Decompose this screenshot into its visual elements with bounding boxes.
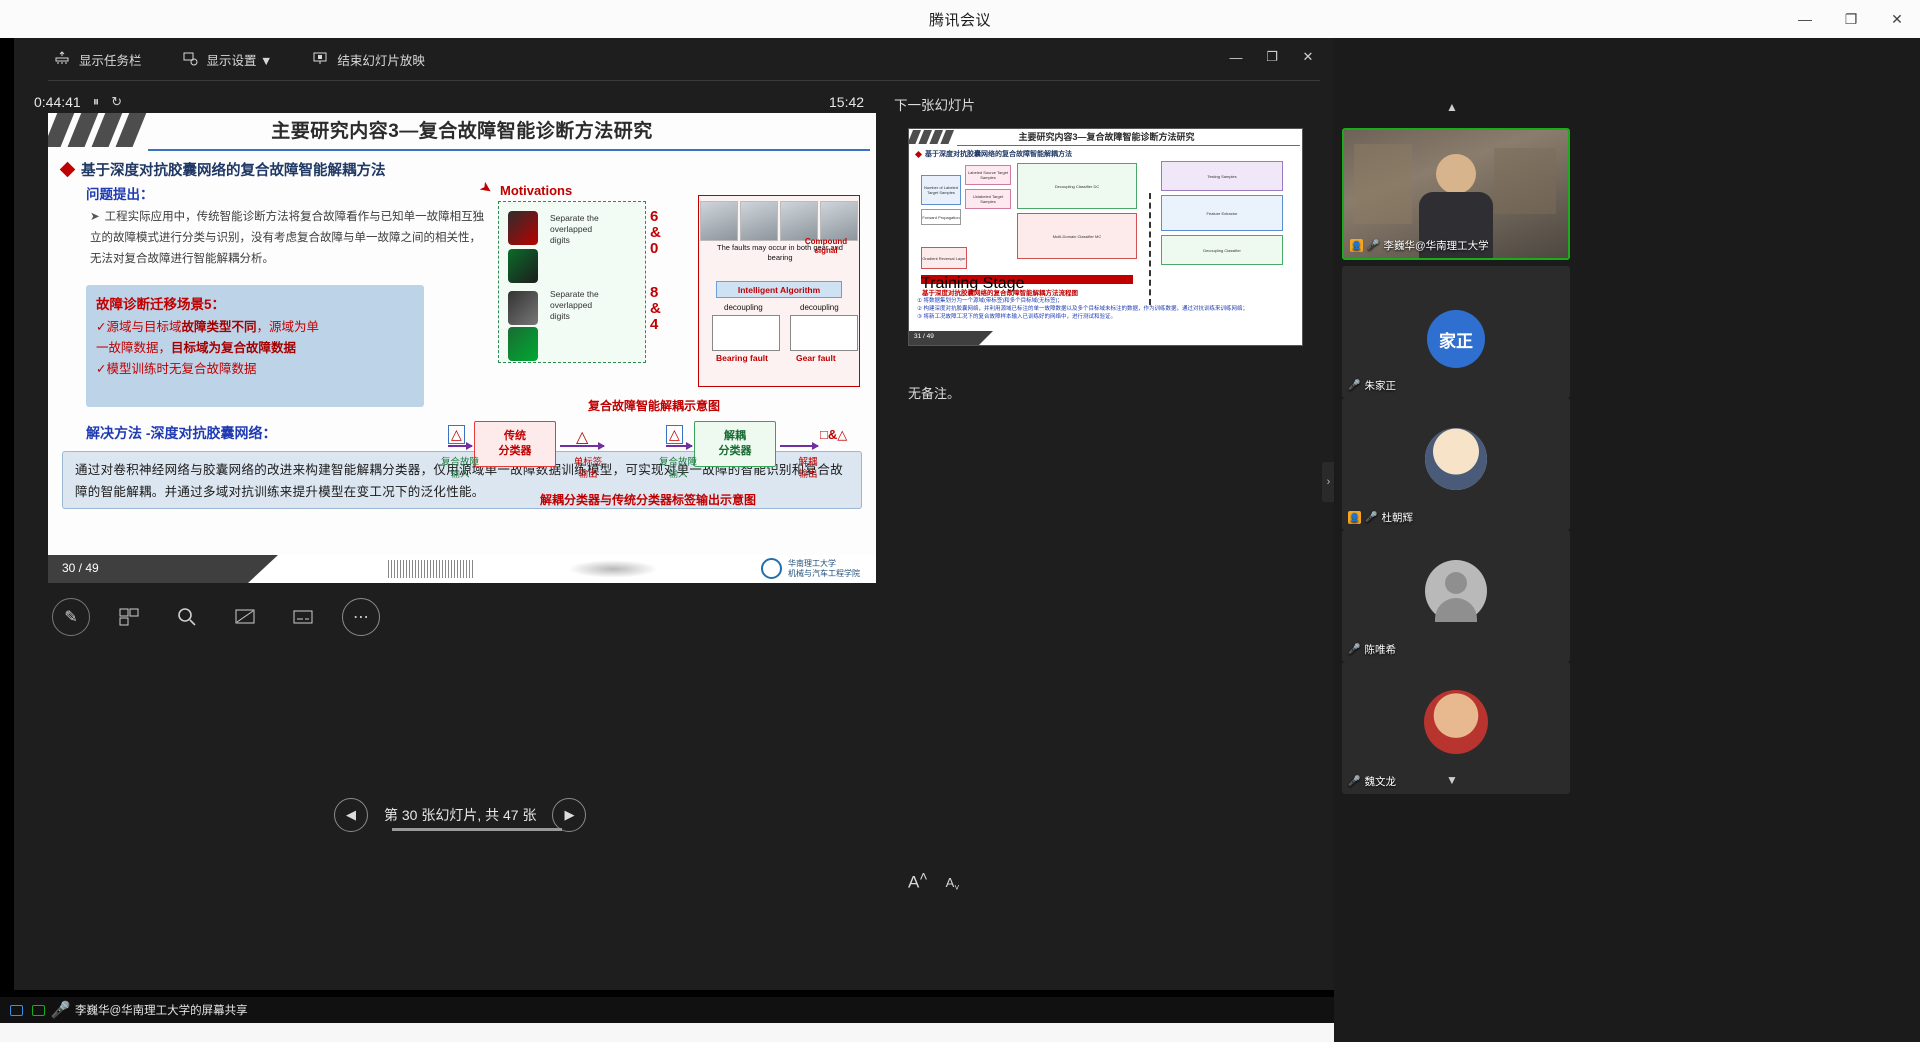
- gear-fault-label: Gear fault: [796, 353, 836, 363]
- digit-images: [500, 205, 546, 361]
- footer-school: 华南理工大学: [788, 559, 860, 569]
- motivations-arrow-icon: ➤: [476, 177, 497, 199]
- notes-panel: 主要研究内容3—复合故障智能诊断方法研究 基于深度对抗胶囊网络的复合故障智能解耦…: [894, 113, 1304, 903]
- preview-block-3: Unlabeled Target Samples: [965, 189, 1011, 209]
- more-options-icon[interactable]: ⋯: [342, 598, 380, 636]
- photo-gear: [740, 201, 778, 241]
- screen-share-text: 李巍华@华南理工大学的屏幕共享: [75, 1002, 248, 1018]
- diamond-bullet-icon: [60, 162, 76, 178]
- presenter-restore-button[interactable]: ❐: [1254, 42, 1290, 72]
- participant-label-0: 李巍华@华南理工大学: [1383, 238, 1488, 253]
- slide-counter: 第 30 张幻灯片, 共 47 张: [384, 805, 536, 825]
- scenario-line1-post: ，源域为单: [257, 320, 320, 334]
- show-taskbar-icon: [54, 51, 70, 67]
- preview-block-2: Labeled Source Target Samples: [965, 165, 1011, 185]
- footer-blur-graphic: [568, 560, 658, 578]
- flow-arrow-1: [448, 445, 472, 447]
- preview-header: 主要研究内容3—复合故障智能诊断方法研究: [909, 129, 1302, 145]
- waveform-bearing: [712, 315, 780, 351]
- scroll-down-icon[interactable]: ▼: [1446, 773, 1458, 787]
- avatar-photo-4: [1424, 690, 1488, 754]
- participant-name-1: 🎤 朱家正: [1348, 378, 1396, 393]
- increase-font-button[interactable]: A˄: [908, 869, 928, 893]
- decoupling-classifier-box: 解耦分类器: [694, 421, 776, 467]
- mic-icon-4: 🎤: [1348, 776, 1360, 787]
- host-badge-0: 👤: [1350, 239, 1363, 252]
- preview-body-lines: ① 将数据集划分为一个源域(带标签)和多个目标域(无标签)； ② 构建深度对抗胶…: [917, 297, 1297, 321]
- preview-line-3: ③ 将新工况故障工况下的复合故障样本输入已训练好的网络中，进行测试和验证。: [917, 313, 1297, 321]
- decrease-font-button[interactable]: A˅: [946, 875, 960, 893]
- timer-restart-icon[interactable]: ↻: [111, 94, 122, 110]
- magnifier-glyph: [177, 607, 197, 627]
- motivations-label: Motivations: [500, 183, 572, 198]
- digit-image-2: [508, 249, 538, 283]
- participant-name-3: 🎤 陈唯希: [1348, 642, 1396, 657]
- separate-text-2: Separate the overlapped digits: [550, 289, 612, 322]
- scenario-line2-pre: 一故障数据，: [96, 341, 171, 355]
- end-show-button[interactable]: 结束幻灯片放映: [312, 50, 425, 69]
- avatar-anime-2: [1425, 428, 1487, 490]
- window-title: 腾讯会议: [929, 9, 991, 30]
- presentation-timer: 0:44:41 ⏸ ↻: [34, 94, 122, 110]
- footer-dept: 机械与汽车工程学院: [788, 569, 860, 579]
- show-taskbar-button[interactable]: 显示任务栏: [54, 50, 142, 69]
- scenario-heading: 故障诊断迁移场景5：: [96, 293, 414, 313]
- subtitle-icon[interactable]: [284, 598, 322, 636]
- next-slide-button[interactable]: ▶: [552, 798, 586, 832]
- display-settings-icon: [182, 51, 198, 67]
- digit-image-1: [508, 211, 538, 245]
- preview-training-band: Training Stage: [921, 275, 1133, 284]
- input-triangle-1-icon: △: [448, 425, 465, 444]
- mic-icon: 🎤: [53, 1004, 68, 1017]
- scenario-line2-bold: 目标域为复合故障数据: [171, 341, 296, 355]
- preview-bullet: 基于深度对抗胶囊网络的复合故障智能解耦方法: [916, 149, 1072, 159]
- toolbar-divider: [48, 80, 1320, 81]
- digit-result-1: 6&0: [650, 209, 661, 257]
- flow-arrow-4: [780, 445, 818, 447]
- problem-subhead: 问题提出：: [86, 183, 154, 203]
- minimize-button[interactable]: —: [1782, 0, 1828, 38]
- slide-footer: 30 / 49 华南理工大学 机械与汽车工程学院: [48, 555, 876, 583]
- blackout-glyph: [235, 609, 255, 625]
- participant-label-1: 朱家正: [1364, 378, 1396, 393]
- digit-result-2: 8&4: [650, 285, 661, 333]
- slide-title: 主要研究内容3—复合故障智能诊断方法研究: [48, 116, 876, 143]
- title-underline: [148, 149, 870, 151]
- window-titlebar: 腾讯会议 — ❐ ✕: [0, 0, 1920, 38]
- preview-title-underline: [957, 145, 1300, 146]
- participant-name-0: 👤 🎤 李巍华@华南理工大学: [1350, 238, 1489, 253]
- flow-label-output-1: 单标签输出: [566, 457, 610, 481]
- participant-tile-3[interactable]: 🎤 陈唯希: [1342, 530, 1570, 662]
- preview-diamond-icon: [915, 150, 922, 157]
- timer-pause-icon[interactable]: ⏸: [93, 94, 100, 110]
- preview-line-1: ① 将数据集划分为一个源域(带标签)和多个目标域(无标签)；: [917, 297, 1297, 305]
- flow-label-input-1: 复合故障输入: [438, 457, 482, 481]
- participant-tile-2[interactable]: 👤 🎤 杜朝辉: [1342, 398, 1570, 530]
- avatar-default-3: [1425, 560, 1487, 622]
- presenter-view-window: 显示任务栏 显示设置 ▼ 结束幻灯片放映: [14, 38, 1334, 990]
- scenario-line-2: 一故障数据，目标域为复合故障数据: [96, 338, 414, 359]
- preview-title: 主要研究内容3—复合故障智能诊断方法研究: [909, 130, 1303, 143]
- scroll-up-icon[interactable]: ▲: [1446, 100, 1458, 114]
- separate-text-1: Separate the overlapped digits: [550, 213, 612, 246]
- presenter-close-button[interactable]: ✕: [1290, 42, 1326, 72]
- flow-label-input-2: 复合故障输入: [656, 457, 700, 481]
- problem-paragraph-text: 工程实际应用中，传统智能诊断方法将复合故障看作与已知单一故障相互独立的故障模式进…: [90, 211, 484, 265]
- display-settings-label: 显示设置 ▼: [207, 50, 273, 69]
- end-show-label: 结束幻灯片放映: [337, 50, 425, 69]
- mic-icon-2: 🎤: [1365, 512, 1377, 523]
- decoupling-label-right: decoupling: [800, 303, 839, 312]
- camera-icon: [31, 1004, 46, 1017]
- mic-icon-1: 🎤: [1348, 380, 1360, 391]
- maximize-button[interactable]: ❐: [1828, 0, 1874, 38]
- main-bullet: 基于深度对抗胶囊网络的复合故障智能解耦方法: [62, 159, 386, 180]
- footer-waveform-graphic: [388, 560, 474, 578]
- participant-label-3: 陈唯希: [1364, 642, 1396, 657]
- subtitle-glyph: [293, 610, 313, 624]
- slide-tools: ✎: [52, 598, 380, 636]
- mic-icon-0: 🎤: [1367, 240, 1379, 251]
- zoom-tool-icon[interactable]: [168, 598, 206, 636]
- scenario-box: 故障诊断迁移场景5： ✓源域与目标域故障类型不同，源域为单 一故障数据，目标域为…: [86, 285, 424, 407]
- preview-page-number: 31 / 49: [914, 333, 934, 340]
- scenario-line1-pre: ✓源域与目标域: [96, 320, 181, 334]
- output-symbols-icon: □&△: [820, 427, 847, 443]
- photo-motor: [780, 201, 818, 241]
- presenter-minimize-button[interactable]: —: [1218, 42, 1254, 72]
- photo-bearing: [820, 201, 858, 241]
- preview-footer: 31 / 49: [909, 331, 1303, 345]
- timer-value: 0:44:41: [34, 94, 81, 110]
- slide-navigation: ◀ 第 30 张幻灯片, 共 47 张 ▶: [334, 798, 614, 832]
- machine-photos: [700, 201, 858, 241]
- preview-block-fe: Feature Extractor: [1161, 195, 1283, 231]
- preview-block-testsamples: Testing Samples: [1161, 161, 1283, 191]
- flow-arrow-2: [560, 445, 604, 447]
- participant-label-4: 魏文龙: [1364, 774, 1396, 789]
- participant-name-2: 👤 🎤 杜朝辉: [1348, 510, 1413, 525]
- intelligent-algorithm-box: Intelligent Algorithm: [716, 281, 842, 298]
- next-slide-label: 下一张幻灯片: [894, 94, 975, 114]
- close-button[interactable]: ✕: [1874, 0, 1920, 38]
- preview-block-dc: Decoupling Classifier DC: [1017, 163, 1137, 209]
- presenter-toolbar: 显示任务栏 显示设置 ▼ 结束幻灯片放映: [14, 38, 1334, 80]
- main-bullet-text: 基于深度对抗胶囊网络的复合故障智能解耦方法: [81, 159, 386, 180]
- current-slide[interactable]: 主要研究内容3—复合故障智能诊断方法研究 基于深度对抗胶囊网络的复合故障智能解耦…: [48, 113, 876, 583]
- waveform-gear: [790, 315, 858, 351]
- scenario-line1-bold: 故障类型不同: [181, 320, 256, 334]
- shared-screen-stage: 显示任务栏 显示设置 ▼ 结束幻灯片放映: [0, 38, 1334, 1023]
- university-name: 华南理工大学 机械与汽车工程学院: [788, 559, 860, 579]
- figure-caption-2: 解耦分类器与传统分类器标签输出示意图: [540, 491, 756, 508]
- preview-block-1: Number of Labeled Target Samples: [921, 175, 961, 205]
- arrow-bullet-icon: ➤: [90, 211, 100, 223]
- badge-2: 👤: [1348, 511, 1361, 524]
- slide-header: 主要研究内容3—复合故障智能诊断方法研究: [48, 113, 876, 151]
- preview-figure: Number of Labeled Target Samples Labeled…: [921, 161, 1293, 273]
- preview-line-2: ② 构建深度对抗胶囊网络，并利用源域已标注的单一故障数据以及多个目标域未标注的数…: [917, 305, 1297, 313]
- all-slides-icon[interactable]: [110, 598, 148, 636]
- scenario-line-3: ✓模型训练时无复合故障数据: [96, 359, 414, 380]
- solution-heading: 解决方法 -深度对抗胶囊网络：: [86, 423, 277, 443]
- preview-block-mc: Multi-Domain Classifier MC: [1017, 213, 1137, 259]
- traditional-classifier-box: 传统分类器: [474, 421, 556, 467]
- digit-image-3: [508, 291, 538, 325]
- input-triangle-2-icon: △: [666, 425, 683, 444]
- show-taskbar-label: 显示任务栏: [79, 50, 142, 69]
- participant-name-4: 🎤 魏文龙: [1348, 774, 1396, 789]
- flow-arrow-3: [666, 445, 692, 447]
- slide-page-number: 30 / 49: [62, 561, 99, 575]
- window-controls: — ❐ ✕: [1782, 0, 1920, 38]
- screen-share-icon: [9, 1004, 24, 1017]
- digit-image-4: [508, 327, 538, 361]
- presenter-window-controls: — ❐ ✕: [1218, 42, 1326, 72]
- decoupling-label-left: decoupling: [724, 303, 763, 312]
- participant-tile-1[interactable]: 家正 🎤 朱家正: [1342, 266, 1570, 398]
- preview-footer-wedge: [979, 331, 1303, 345]
- mic-icon-3: 🎤: [1348, 644, 1360, 655]
- preview-bullet-text: 基于深度对抗胶囊网络的复合故障智能解耦方法: [925, 149, 1072, 159]
- problem-paragraph: ➤工程实际应用中，传统智能诊断方法将复合故障看作与已知单一故障相互独立的故障模式…: [90, 207, 490, 270]
- participant-label-2: 杜朝辉: [1381, 510, 1413, 525]
- screen-share-statusbar: 🎤 李巍华@华南理工大学的屏幕共享: [0, 997, 1334, 1023]
- grid-glyph: [119, 608, 139, 626]
- progress-underline: [392, 828, 562, 831]
- notes-font-buttons: A˄ A˅: [908, 869, 960, 893]
- scenario-line-1: ✓源域与目标域故障类型不同，源域为单: [96, 317, 414, 338]
- prev-slide-button[interactable]: ◀: [334, 798, 368, 832]
- preview-caption: 基于深度对抗胶囊网络的复合故障智能解耦方法流程图: [922, 287, 1078, 297]
- participant-tile-0[interactable]: 👤 🎤 李巍华@华南理工大学: [1342, 128, 1570, 260]
- preview-divider-dashed: [1149, 193, 1151, 305]
- avatar-initials-1: 家正: [1427, 310, 1485, 368]
- photo-train: [700, 201, 738, 241]
- notes-content: 无备注。: [908, 383, 960, 402]
- figure-caption-1: 复合故障智能解耦示意图: [588, 397, 720, 414]
- next-slide-preview[interactable]: 主要研究内容3—复合故障智能诊断方法研究 基于深度对抗胶囊网络的复合故障智能解耦…: [908, 128, 1303, 346]
- app-window: 腾讯会议 — ❐ ✕ 显示任务栏: [0, 0, 1920, 1042]
- pen-tool-icon[interactable]: ✎: [52, 598, 90, 636]
- compound-signal-label: Compound signal: [796, 237, 856, 255]
- bearing-fault-label: Bearing fault: [716, 353, 768, 363]
- display-settings-button[interactable]: 显示设置 ▼: [182, 50, 273, 69]
- output-triangle-1-icon: △: [576, 427, 588, 447]
- clock: 15:42: [829, 94, 864, 110]
- classifier-flow-diagram: △ 传统分类器 △ △ 解耦分类器 □&△ 复合故障输入 单标签输出 复合故障输…: [448, 413, 868, 493]
- flow-label-output-2: 解耦输出: [786, 457, 830, 481]
- preview-block-grl: Gradient Reversal Layer: [921, 247, 967, 269]
- preview-block-dc2: Decoupling Classifier: [1161, 235, 1283, 265]
- university-logo: 华南理工大学 机械与汽车工程学院: [761, 558, 860, 579]
- blackout-screen-icon[interactable]: [226, 598, 264, 636]
- preview-block-4: Forward Propagation: [921, 209, 961, 225]
- university-seal-icon: [761, 558, 782, 579]
- participant-rail: ▲ 👤 🎤 李巍华@华南理工大学 家正 🎤 朱家正: [1334, 38, 1920, 1042]
- end-show-icon: [312, 51, 328, 67]
